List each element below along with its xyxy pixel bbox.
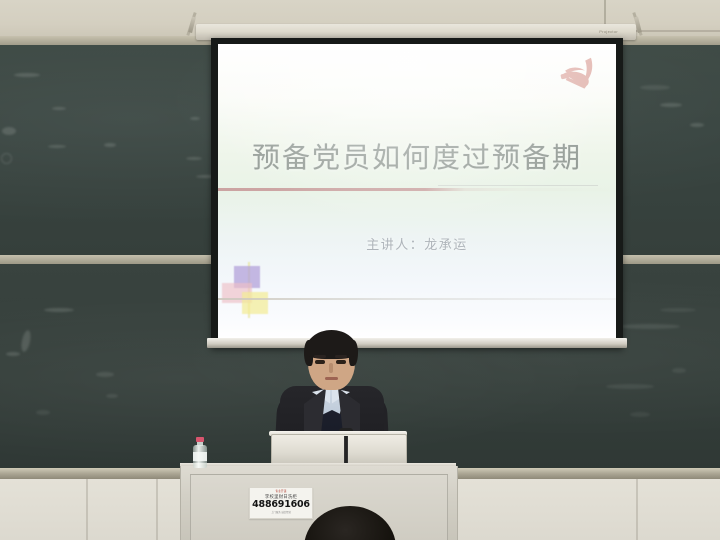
slide-rule-accent [218,188,616,191]
presentation-slide[interactable]: 预备党员如何度过预备期 主讲人：龙承运 [218,44,616,338]
slide-subtitle: 主讲人：龙承运 [218,234,616,253]
projection-screen-weight-bar [207,338,627,348]
deco-square-yellow [242,292,268,314]
slide-decoration-squares [218,266,288,322]
lower-wall-seam-left [86,479,88,540]
classroom-photo: Projector 预备党员如何度过预备期 主讲人：龙承运 [0,0,720,540]
podium-sticker: 专业开锁 李校里财日洗柜 488691606 上门服务 诚信经营 [249,487,313,519]
lower-wall-seam-left2 [156,479,158,540]
sticker-line-top: 专业开锁 [250,490,312,493]
housing-brand-label: Projector [599,29,618,34]
lower-wall-seam-right [636,479,638,540]
slide-title: 预备党员如何度过预备期 [218,136,616,176]
water-bottle [192,437,208,468]
bottle-cap [196,437,204,442]
sticker-phone-number: 488691606 [250,499,312,510]
microphone-stand [344,436,348,466]
slide-rule-secondary [438,185,598,186]
speaker-hair [305,330,358,359]
slide-footer-line [218,298,616,300]
sticker-line-bottom: 上门服务 诚信经营 [250,511,312,514]
hammer-and-sickle-icon [554,52,602,98]
